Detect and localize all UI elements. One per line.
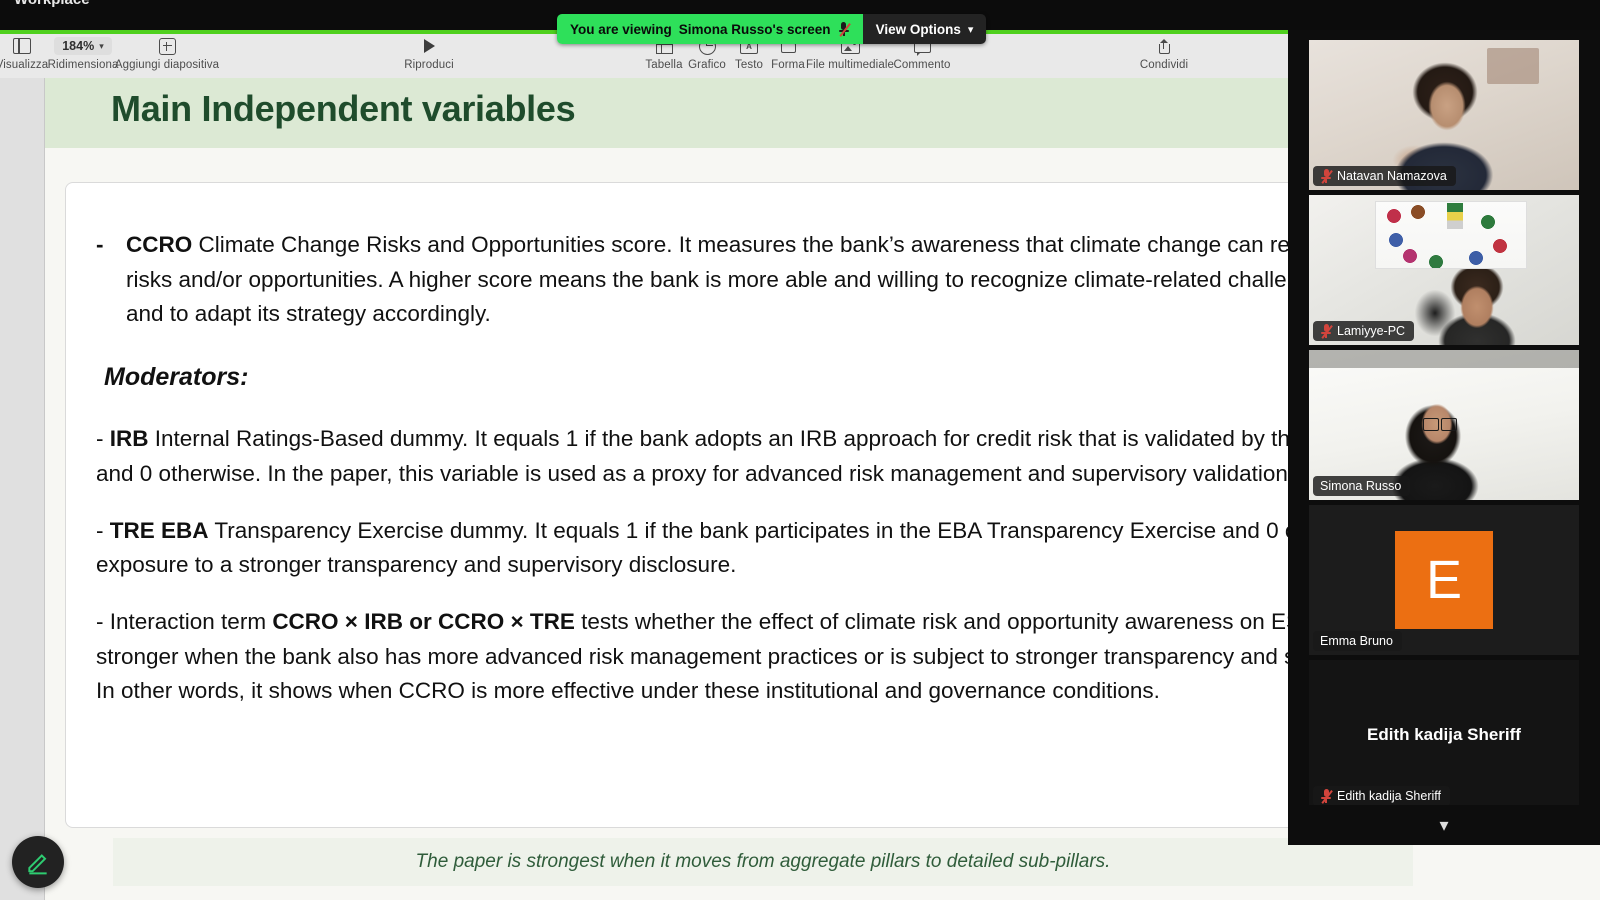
participant-rail: Natavan Namazova Lamiyye-PC Simona Russo… xyxy=(1288,30,1600,845)
participant-tile-natavan-namazova[interactable]: Natavan Namazova xyxy=(1309,40,1579,190)
rail-scroll-down-button[interactable]: ▾ xyxy=(1288,805,1600,845)
view-options-label: View Options xyxy=(876,22,961,37)
screen-share-banner: You are viewing Simona Russo's screen Vi… xyxy=(557,14,986,44)
plus-box-icon xyxy=(159,36,176,56)
participant-namebar: Lamiyye-PC xyxy=(1313,321,1414,341)
slide-footer-band: The paper is strongest when it moves fro… xyxy=(113,838,1413,886)
pencil-icon xyxy=(25,849,51,875)
participant-display-name: Edith kadija Sheriff xyxy=(1367,725,1521,745)
participant-name: Natavan Namazova xyxy=(1337,169,1447,183)
tre-dash: - xyxy=(96,518,110,543)
zoom-value: 184% xyxy=(62,39,94,53)
share-banner-presenter: Simona Russo's screen xyxy=(679,22,831,37)
avatar-initial: E xyxy=(1426,549,1462,611)
share-banner-status: You are viewing Simona Russo's screen xyxy=(557,14,863,44)
toolbar-share-button[interactable]: Condividi xyxy=(1109,36,1219,71)
participant-namebar: Emma Bruno xyxy=(1313,631,1402,651)
participant-tile-simona-russo[interactable]: Simona Russo xyxy=(1309,350,1579,500)
chevron-down-icon: ▾ xyxy=(99,41,104,52)
bullet-ccro-term: CCRO xyxy=(126,232,192,257)
mic-muted-icon xyxy=(1320,169,1332,183)
zoom-select[interactable]: 184% ▾ xyxy=(54,37,112,55)
bullet-dash: - xyxy=(96,228,104,263)
toolbar-play-button[interactable]: Riproduci xyxy=(374,36,484,71)
participant-namebar: Edith kadija Sheriff xyxy=(1313,786,1450,806)
share-banner-prefix: You are viewing xyxy=(570,22,672,37)
irb-dash: - xyxy=(96,426,110,451)
participant-namebar: Natavan Namazova xyxy=(1313,166,1456,186)
participant-name: Lamiyye-PC xyxy=(1337,324,1405,338)
page-title: Main Independent variables xyxy=(111,88,575,130)
play-icon xyxy=(424,36,435,56)
toolbar-add-slide-button[interactable]: Aggiungi diapositiva xyxy=(112,36,222,71)
participant-name: Simona Russo xyxy=(1320,479,1401,493)
chevron-down-icon: ▾ xyxy=(1439,815,1448,836)
bullet-irb-term: IRB xyxy=(110,426,149,451)
participant-namebar: Simona Russo xyxy=(1313,476,1410,496)
toolbar-zoom-label: Ridimensiona xyxy=(48,59,119,71)
share-upload-icon xyxy=(1158,36,1171,56)
toolbar-add-slide-label: Aggiungi diapositiva xyxy=(115,59,219,71)
zoom-screen-share-view: Workplace Visualizza 184% ▾ Ridimensiona… xyxy=(0,0,1600,900)
bullet-tre-term: TRE EBA xyxy=(110,518,209,543)
slide-navigator-panel[interactable] xyxy=(0,78,45,900)
participant-tile-lamiyye-pc[interactable]: Lamiyye-PC xyxy=(1309,195,1579,345)
mic-muted-icon xyxy=(1320,789,1332,803)
mic-muted-icon xyxy=(838,22,850,36)
toolbar-comment-label: Commento xyxy=(893,59,950,71)
chevron-down-icon: ▾ xyxy=(968,23,974,36)
bullet-interaction-term: CCRO × IRB or CCRO × TRE xyxy=(272,609,575,634)
participant-tile-edith-kadija-sheriff[interactable]: Edith kadija Sheriff Edith kadija Sherif… xyxy=(1309,660,1579,810)
workplace-label: Workplace xyxy=(14,0,90,8)
participant-name: Emma Bruno xyxy=(1320,634,1393,648)
interaction-prefix: - Interaction term xyxy=(96,609,272,634)
toolbar-play-label: Riproduci xyxy=(404,59,453,71)
participant-tile-emma-bruno[interactable]: E Emma Bruno xyxy=(1309,505,1579,655)
slide-footer-caption: The paper is strongest when it moves fro… xyxy=(416,851,1111,873)
avatar: E xyxy=(1395,531,1493,629)
annotate-button[interactable] xyxy=(12,836,64,888)
participant-name: Edith kadija Sheriff xyxy=(1337,789,1441,803)
mic-muted-icon xyxy=(1320,324,1332,338)
view-options-button[interactable]: View Options ▾ xyxy=(863,14,987,44)
toolbar-share-label: Condividi xyxy=(1140,59,1188,71)
